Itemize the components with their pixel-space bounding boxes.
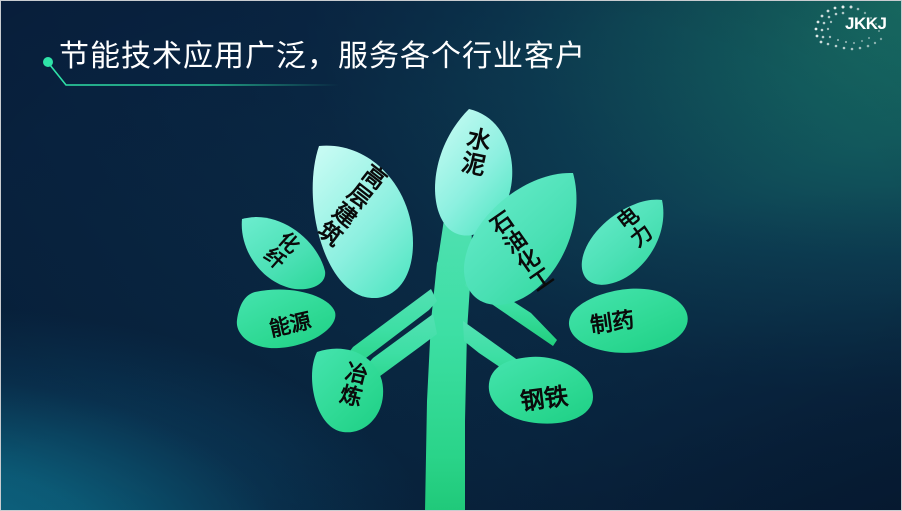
jkkj-logo: JKKJ bbox=[813, 3, 891, 53]
page-title: 节能技术应用广泛，服务各个行业客户 bbox=[59, 39, 586, 75]
presentation-slide: 水泥 高层建筑 石油化工 化纤 电力 能源 制药 冶炼 钢铁 节能技术应用广泛，… bbox=[0, 0, 902, 511]
logo-wordmark: JKKJ bbox=[845, 14, 886, 34]
page-title-text: 节能技术应用广泛，服务各个行业客户 bbox=[59, 39, 586, 75]
background-vignette bbox=[1, 1, 901, 510]
